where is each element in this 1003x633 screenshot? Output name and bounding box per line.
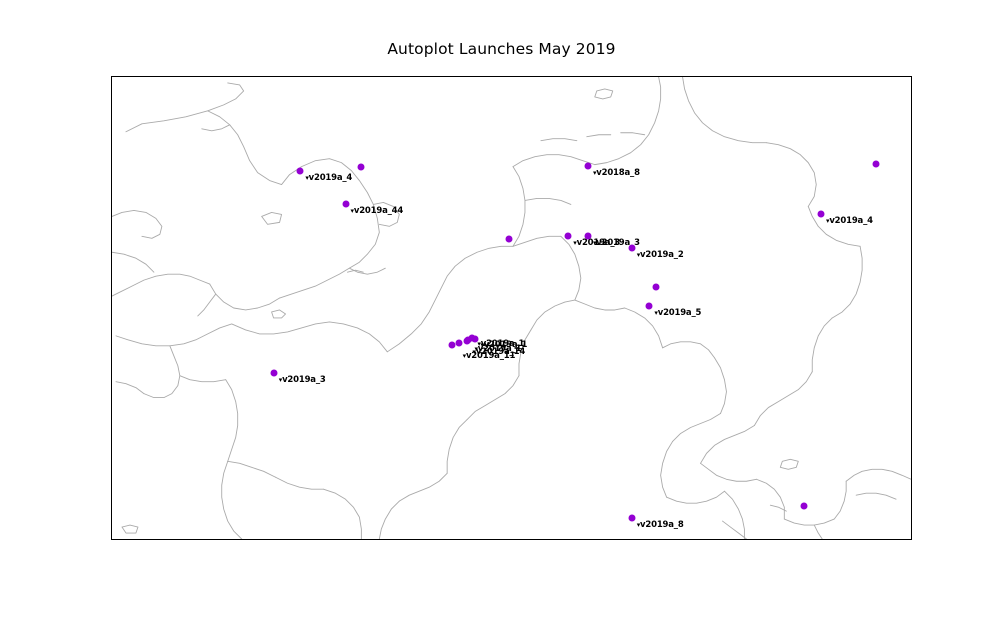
scatter-point-label: ▾v2019a_2 (637, 250, 684, 260)
y-axis-minor-tick-mark (111, 126, 112, 127)
x-axis-minor-tick-mark (797, 539, 798, 540)
scatter-point[interactable] (646, 303, 653, 310)
x-axis-minor-tick-mark (306, 539, 307, 540)
scatter-point[interactable] (628, 514, 635, 521)
label-marker-icon: ▾ (593, 169, 596, 177)
scatter-point[interactable] (872, 160, 879, 167)
label-marker-icon: ▾ (654, 309, 657, 317)
scatter-point[interactable] (818, 210, 825, 217)
label-marker-icon: ▾ (351, 207, 354, 215)
x-axis-minor-tick-mark (601, 539, 602, 540)
scatter-point[interactable] (584, 233, 591, 240)
label-marker-icon: ▾ (305, 174, 308, 182)
label-marker-icon: ▾ (637, 521, 640, 529)
scatter-point[interactable] (455, 339, 462, 346)
label-marker-icon: ▾ (573, 239, 576, 247)
scatter-point[interactable] (506, 235, 513, 242)
x-axis-minor-tick-mark (699, 539, 700, 540)
x-axis-tick-mark (158, 539, 159, 540)
scatter-point[interactable] (358, 163, 365, 170)
x-axis-tick-mark (551, 539, 552, 540)
scatter-point[interactable] (342, 200, 349, 207)
scatter-point-label: ▾v2019a_3 (279, 375, 326, 385)
scatter-point[interactable] (653, 284, 660, 291)
x-axis-minor-tick-mark (404, 539, 405, 540)
scatter-point[interactable] (448, 341, 455, 348)
x-axis-tick-mark (748, 539, 749, 540)
y-axis-minor-tick-mark (111, 226, 112, 227)
y-axis-minor-tick-mark (111, 325, 112, 326)
x-axis-minor-tick-mark (502, 539, 503, 540)
y-axis-minor-tick-mark (111, 524, 112, 525)
scatter-point-label: ▾v2019a_4 (826, 216, 873, 226)
scatter-point-label: ▾v2018a_8 (593, 168, 640, 178)
scatter-point[interactable] (297, 168, 304, 175)
label-marker-icon: ▾ (826, 217, 829, 225)
y-axis-minor-tick-mark (111, 425, 112, 426)
scatter-point-label: ▾v2019a_11 (463, 351, 516, 361)
figure-canvas: Autoplot Launches May 2019 (0, 0, 1003, 633)
label-marker-icon: ▾ (279, 376, 282, 384)
x-axis-tick-mark (355, 539, 356, 540)
basemap-coastlines (112, 77, 911, 539)
scatter-point[interactable] (565, 233, 572, 240)
scatter-point[interactable] (472, 335, 479, 342)
x-axis-minor-tick-mark (896, 539, 897, 540)
x-axis-tick-mark (650, 539, 651, 540)
label-marker-icon: ▾ (593, 239, 596, 247)
label-marker-icon: ▾ (637, 251, 640, 259)
chart-title: Autoplot Launches May 2019 (0, 40, 1003, 58)
x-axis-tick-mark (846, 539, 847, 540)
label-marker-icon: ▾ (463, 352, 466, 360)
scatter-point[interactable] (463, 337, 470, 344)
scatter-point[interactable] (800, 503, 807, 510)
y-axis-tick-mark (111, 76, 112, 77)
y-axis-tick-mark (111, 176, 112, 177)
x-axis-minor-tick-mark (207, 539, 208, 540)
scatter-point[interactable] (628, 245, 635, 252)
scatter-point-label: ▾v2019a_4 (305, 173, 352, 183)
scatter-point-label: ▾v2019a_8 (637, 520, 684, 530)
x-axis-tick-mark (256, 539, 257, 540)
scatter-point-label: ▾v2019a_44 (351, 206, 404, 216)
x-axis-tick-mark (453, 539, 454, 540)
scatter-point[interactable] (584, 162, 591, 169)
scatter-point[interactable] (270, 369, 277, 376)
map-axes[interactable]: 4648505254-4-20246810▾v2019a_4▾v2019a_44… (111, 76, 912, 540)
scatter-point-label: ▾v2019a_5 (654, 308, 701, 318)
y-axis-tick-mark (111, 475, 112, 476)
y-axis-tick-mark (111, 375, 112, 376)
y-axis-tick-mark (111, 275, 112, 276)
